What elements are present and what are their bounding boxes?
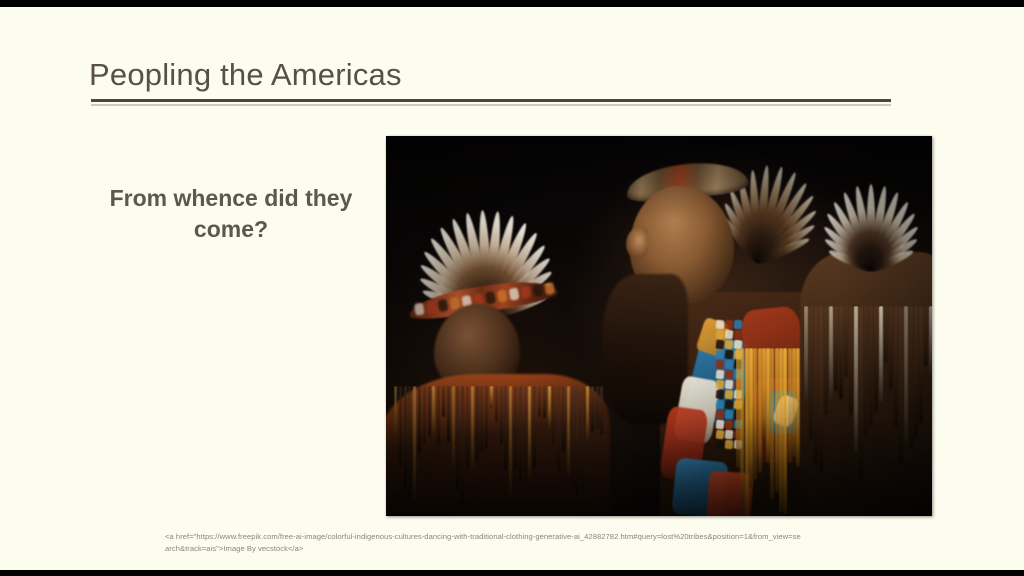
fringe-strand	[423, 386, 426, 444]
fringe-strand	[432, 386, 435, 437]
fringe-strand	[581, 386, 584, 492]
bead-cell	[414, 302, 425, 315]
fringe-strand	[548, 386, 551, 428]
bead-cell	[716, 350, 725, 360]
fringe-strand	[919, 306, 923, 423]
center-dancer-profile-nose	[626, 228, 648, 258]
fringe-strand	[788, 348, 792, 463]
bead-cell	[725, 400, 734, 410]
fringe-strand	[889, 306, 893, 389]
fringe-strand	[929, 306, 932, 375]
bead-cell	[725, 360, 734, 370]
fringe-strand	[504, 386, 507, 470]
bead-cell	[532, 284, 543, 297]
fringe-strand	[849, 306, 853, 415]
fringe-strand	[533, 386, 536, 468]
bead-cell	[725, 320, 734, 330]
fringe-strand	[600, 386, 603, 435]
fringe-strand	[485, 386, 488, 449]
bead-cell	[725, 410, 734, 420]
bead-cell	[485, 291, 496, 304]
fringe-strand	[859, 306, 863, 478]
fringe-strand	[461, 386, 464, 508]
fringe-strand	[770, 348, 774, 499]
bead-cell	[716, 410, 725, 420]
fringe-strand	[753, 348, 757, 480]
fringe-strand	[418, 386, 421, 452]
bead-cell	[544, 282, 555, 295]
bead-cell	[725, 350, 734, 360]
fringe-strand	[500, 386, 503, 444]
fringe-strand	[490, 386, 493, 408]
fringe-strand	[909, 306, 913, 448]
fringe-strand	[557, 386, 560, 471]
center-dancer-hair	[602, 274, 688, 424]
bead-cell	[716, 330, 725, 340]
fringe-strand	[471, 386, 474, 468]
fringe-strand	[543, 386, 546, 418]
fringe-strand	[591, 386, 594, 432]
bead-cell	[716, 400, 725, 410]
bead-cell	[521, 286, 532, 299]
fringe-strand	[869, 306, 873, 427]
fringe-strand	[834, 306, 838, 391]
fringe-strand	[814, 306, 818, 465]
fringe-strand	[404, 386, 407, 487]
bead-cell	[725, 390, 734, 400]
fringe-strand	[399, 386, 402, 466]
bead-cell	[716, 380, 725, 390]
fringe-strand	[538, 386, 541, 417]
bead-cell	[716, 320, 725, 330]
fringe-strand	[572, 386, 575, 490]
slide-frame: Peopling the Americas From whence did th…	[0, 0, 1024, 576]
fringe-strand	[924, 306, 928, 366]
bead-cell	[734, 330, 743, 340]
bead-cell	[509, 287, 520, 300]
fringe-strand	[480, 386, 483, 452]
title-divider	[91, 99, 891, 106]
fringe-strand	[783, 348, 787, 514]
fringe-strand	[804, 306, 808, 402]
left-dancer-fringe	[394, 386, 604, 516]
fringe-strand	[413, 386, 416, 502]
bead-cell	[716, 390, 725, 400]
page-title: Peopling the Americas	[89, 57, 402, 93]
fringe-strand	[904, 306, 908, 442]
fringe-strand	[854, 306, 858, 452]
fringe-strand	[495, 386, 498, 422]
fringe-strand	[476, 386, 479, 460]
letterbox-bar-bottom	[0, 570, 1024, 576]
fringe-strand	[552, 386, 555, 446]
fringe-strand	[844, 306, 848, 377]
fringe-strand	[447, 386, 450, 442]
fringe-strand	[428, 386, 431, 437]
fringe-strand	[509, 386, 512, 495]
fringe-strand	[894, 306, 898, 427]
bead-cell	[716, 340, 725, 350]
fringe-strand	[839, 306, 843, 399]
bead-cell	[716, 370, 725, 380]
fringe-strand	[576, 386, 579, 495]
right-dancer-feather-fan	[806, 166, 932, 270]
fringe-strand	[824, 306, 828, 415]
bead-cell	[438, 299, 449, 312]
fringe-strand	[829, 306, 833, 400]
fringe-strand	[562, 386, 565, 452]
body-question-text: From whence did they come?	[92, 183, 370, 244]
bead-cell	[725, 340, 734, 350]
fringe-strand	[456, 386, 459, 491]
slide-canvas: Peopling the Americas From whence did th…	[0, 7, 1024, 570]
fringe-strand	[914, 306, 918, 438]
fringe-strand	[408, 386, 411, 499]
bead-cell	[725, 430, 734, 440]
bead-cell	[716, 440, 725, 450]
fringe-strand	[452, 386, 455, 468]
fringe-strand	[442, 386, 445, 417]
bead-cell	[716, 420, 725, 430]
letterbox-bar-top	[0, 0, 1024, 7]
fringe-strand	[437, 386, 440, 445]
fringe-strand	[528, 386, 531, 477]
fringe-strand	[567, 386, 570, 475]
fringe-strand	[884, 306, 888, 363]
bead-cell	[725, 380, 734, 390]
fringe-strand	[879, 306, 883, 403]
image-attribution-text: <a href="https://www.freepik.com/free-ai…	[165, 531, 805, 556]
fringe-strand	[864, 306, 868, 436]
bead-cell	[725, 440, 734, 450]
fringe-strand	[466, 386, 469, 470]
fringe-strand	[586, 386, 589, 440]
bead-cell	[734, 320, 743, 330]
fringe-strand	[758, 348, 762, 473]
bead-cell	[716, 430, 725, 440]
bead-cell	[716, 360, 725, 370]
fringe-strand	[514, 386, 517, 470]
fringe-strand	[596, 386, 599, 429]
fringe-strand	[745, 348, 749, 516]
bead-cell	[426, 301, 437, 314]
bead-cell	[497, 289, 508, 302]
fringe-strand	[519, 386, 522, 481]
fringe-strand	[524, 386, 527, 482]
fringe-strand	[899, 306, 903, 465]
title-divider-thin-line	[91, 104, 891, 106]
bead-cell	[725, 370, 734, 380]
fringe-strand	[819, 306, 823, 473]
fringe-strand	[394, 386, 397, 440]
right-dancer	[804, 156, 932, 516]
slide-photo	[386, 136, 932, 516]
fringe-strand	[740, 348, 744, 504]
right-dancer-fringe	[804, 306, 932, 516]
fringe-strand	[874, 306, 878, 411]
bead-cell	[725, 330, 734, 340]
bead-cell	[725, 420, 734, 430]
fringe-strand	[809, 306, 813, 440]
